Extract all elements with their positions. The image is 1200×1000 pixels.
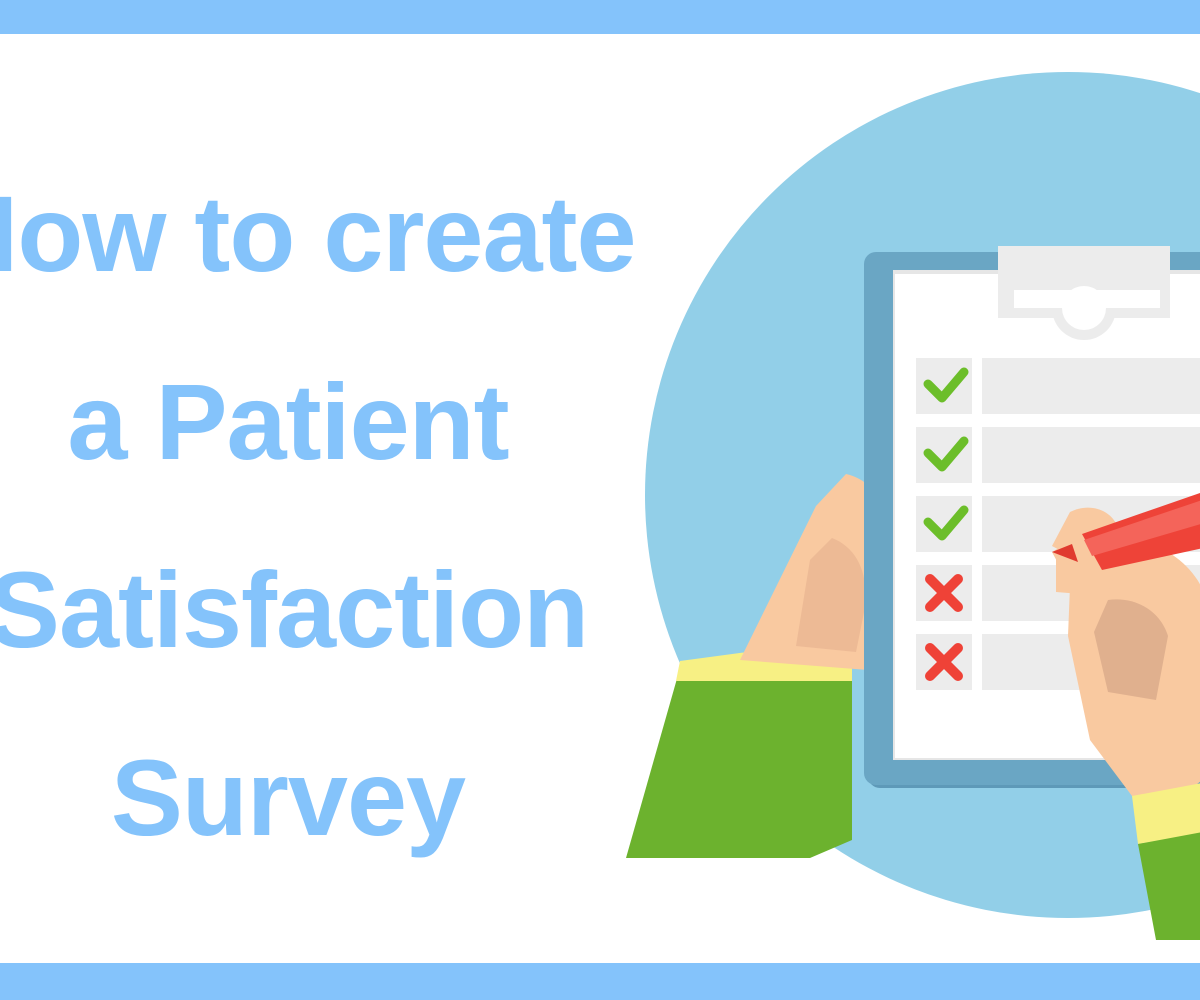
- top-accent-bar: [0, 0, 1200, 34]
- clipboard-clip-hole: [1062, 286, 1106, 330]
- bottom-accent-bar: [0, 963, 1200, 1000]
- survey-illustration: [620, 40, 1200, 940]
- row-line: [982, 427, 1200, 483]
- checklist-row: [916, 427, 1200, 483]
- blog-header-banner: How to create a Patient Satisfaction Sur…: [0, 0, 1200, 1000]
- row-line: [982, 358, 1200, 414]
- checklist-row: [916, 358, 1200, 414]
- right-sleeve: [1138, 828, 1200, 940]
- left-sleeve: [626, 661, 852, 858]
- page-title: How to create a Patient Satisfaction Sur…: [0, 140, 668, 892]
